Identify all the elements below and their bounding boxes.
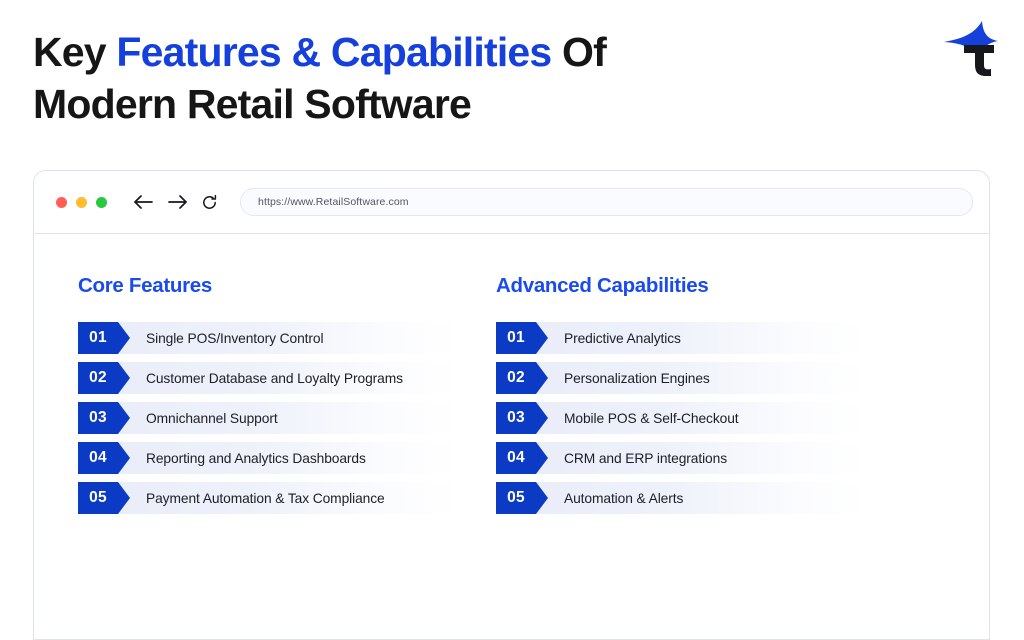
reload-icon[interactable] <box>201 194 218 211</box>
browser-nav-buttons <box>133 194 218 211</box>
list-item[interactable]: 01 Single POS/Inventory Control <box>78 322 460 354</box>
list-item[interactable]: 03 Mobile POS & Self-Checkout <box>496 402 867 434</box>
back-arrow-icon[interactable] <box>133 194 154 210</box>
item-number-badge: 01 <box>78 322 118 354</box>
item-number-badge: 04 <box>496 442 536 474</box>
item-number-badge: 02 <box>496 362 536 394</box>
list-item[interactable]: 05 Payment Automation & Tax Compliance <box>78 482 460 514</box>
list-item[interactable]: 02 Customer Database and Loyalty Program… <box>78 362 460 394</box>
close-window-icon[interactable] <box>56 197 67 208</box>
title-text-pre: Key <box>33 29 116 75</box>
list-item[interactable]: 05 Automation & Alerts <box>496 482 867 514</box>
item-number-badge: 01 <box>496 322 536 354</box>
list-item[interactable]: 04 CRM and ERP integrations <box>496 442 867 474</box>
title-line-two: Modern Retail Software <box>33 81 471 127</box>
item-label: Personalization Engines <box>564 371 710 386</box>
item-label: Payment Automation & Tax Compliance <box>146 491 385 506</box>
card-content: Core Features 01 Single POS/Inventory Co… <box>34 234 989 514</box>
list-item[interactable]: 04 Reporting and Analytics Dashboards <box>78 442 460 474</box>
tau-star-logo <box>940 18 1002 76</box>
maximize-window-icon[interactable] <box>96 197 107 208</box>
browser-window-card: https://www.RetailSoftware.com Core Feat… <box>33 170 990 640</box>
item-number-badge: 02 <box>78 362 118 394</box>
browser-chrome-bar: https://www.RetailSoftware.com <box>34 171 989 234</box>
column-heading: Core Features <box>78 274 496 298</box>
item-number-badge: 03 <box>78 402 118 434</box>
item-label: CRM and ERP integrations <box>564 451 727 466</box>
url-text: https://www.RetailSoftware.com <box>258 196 409 208</box>
item-number-badge: 03 <box>496 402 536 434</box>
item-label: Automation & Alerts <box>564 491 683 506</box>
item-number-badge: 05 <box>496 482 536 514</box>
column-heading: Advanced Capabilities <box>496 274 914 298</box>
list-item[interactable]: 01 Predictive Analytics <box>496 322 867 354</box>
title-text-post: Of <box>551 29 606 75</box>
item-number-badge: 05 <box>78 482 118 514</box>
item-label: Customer Database and Loyalty Programs <box>146 371 403 386</box>
minimize-window-icon[interactable] <box>76 197 87 208</box>
forward-arrow-icon[interactable] <box>167 194 188 210</box>
page-title: Key Features & Capabilities OfModern Ret… <box>33 26 606 130</box>
address-bar[interactable]: https://www.RetailSoftware.com <box>240 188 973 216</box>
core-features-list: 01 Single POS/Inventory Control 02 Custo… <box>78 322 496 514</box>
window-traffic-lights <box>56 197 107 208</box>
item-label: Mobile POS & Self-Checkout <box>564 411 739 426</box>
item-number-badge: 04 <box>78 442 118 474</box>
advanced-capabilities-list: 01 Predictive Analytics 02 Personalizati… <box>496 322 914 514</box>
list-item[interactable]: 03 Omnichannel Support <box>78 402 460 434</box>
item-label: Single POS/Inventory Control <box>146 331 323 346</box>
item-label: Reporting and Analytics Dashboards <box>146 451 366 466</box>
item-label: Predictive Analytics <box>564 331 681 346</box>
title-text-accent: Features & Capabilities <box>116 29 551 75</box>
list-item[interactable]: 02 Personalization Engines <box>496 362 867 394</box>
column-advanced-capabilities: Advanced Capabilities 01 Predictive Anal… <box>496 274 914 514</box>
item-label: Omnichannel Support <box>146 411 278 426</box>
column-core-features: Core Features 01 Single POS/Inventory Co… <box>78 274 496 514</box>
